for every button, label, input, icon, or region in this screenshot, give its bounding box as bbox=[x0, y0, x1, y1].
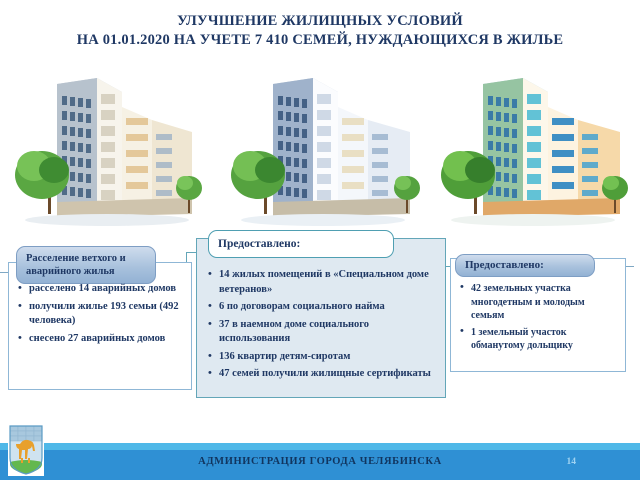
list-item: 47 семей получили жилищные сертификаты bbox=[208, 367, 442, 382]
title-line-2: НА 01.01.2020 НА УЧЕТЕ 7 410 СЕМЕЙ, НУЖД… bbox=[0, 31, 640, 50]
apartment-building-beige-icon bbox=[2, 62, 215, 237]
provided-land-list: 42 земельных участка многодетным и молод… bbox=[460, 282, 620, 356]
list-item: 6 по договорам социального найма bbox=[208, 300, 442, 315]
panel-header-provided-housing: Предоставлено: bbox=[208, 230, 394, 258]
page-title: УЛУЧШЕНИЕ ЖИЛИЩНЫХ УСЛОВИЙ НА 01.01.2020… bbox=[0, 12, 640, 50]
footer-organization: АДМИНИСТРАЦИЯ ГОРОДА ЧЕЛЯБИНСКА bbox=[0, 456, 640, 467]
resettlement-list: расселено 14 аварийных домов получили жи… bbox=[18, 282, 188, 349]
list-item: расселено 14 аварийных домов bbox=[18, 282, 188, 297]
title-line-1: УЛУЧШЕНИЕ ЖИЛИЩНЫХ УСЛОВИЙ bbox=[0, 12, 640, 31]
building-illustrations bbox=[0, 62, 640, 237]
list-item: 14 жилых помещений в «Специальном доме в… bbox=[208, 268, 442, 297]
list-item: 136 квартир детям-сиротам bbox=[208, 350, 442, 365]
list-item: 1 земельный участок обманутому дольщику bbox=[460, 326, 620, 353]
list-item: 42 земельных участка многодетным и молод… bbox=[460, 282, 620, 323]
footer-accent-strip bbox=[0, 443, 640, 450]
provided-housing-list: 14 жилых помещений в «Специальном доме в… bbox=[208, 268, 442, 385]
apartment-building-green-orange-icon bbox=[428, 62, 640, 237]
list-item: снесено 27 аварийных домов bbox=[18, 332, 188, 347]
chelyabinsk-coat-of-arms-icon bbox=[8, 424, 44, 476]
panel-header-provided-land: Предоставлено: bbox=[455, 254, 595, 277]
page-number: 14 bbox=[567, 457, 577, 467]
list-item: 37 в наемном доме социального использова… bbox=[208, 318, 442, 347]
slide: УЛУЧШЕНИЕ ЖИЛИЩНЫХ УСЛОВИЙ НА 01.01.2020… bbox=[0, 0, 640, 480]
list-item: получили жилье 193 семьи (492 человека) bbox=[18, 300, 188, 329]
panel-header-resettlement: Расселение ветхого и аварийного жилья bbox=[16, 246, 156, 284]
apartment-building-blue-icon bbox=[218, 62, 431, 237]
